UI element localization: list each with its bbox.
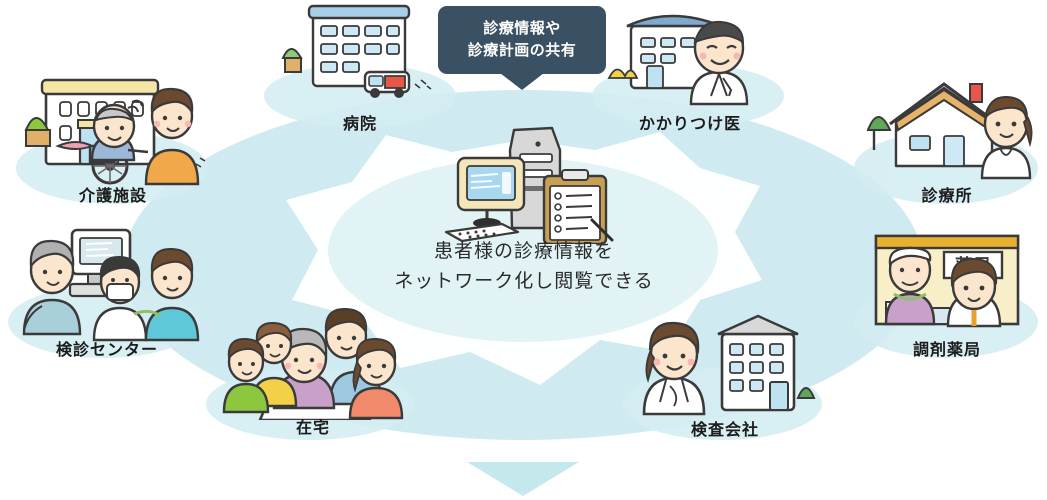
arrow-down-icon (467, 462, 579, 496)
node-screening[interactable]: 検診センター (12, 222, 202, 372)
badge-pointer-icon (500, 73, 544, 90)
node-lab-company[interactable]: 検査会社 (630, 302, 820, 452)
badge-line1: 診療情報や (468, 18, 577, 40)
node-hospital[interactable]: 病院 (265, 0, 455, 146)
node-family-doctor-label: かかりつけ医 (595, 110, 785, 134)
family-home-icon (218, 300, 408, 420)
center-caption-line1: 患者様の診療情報を (352, 236, 696, 266)
node-pharmacy-label: 調剤薬局 (852, 336, 1042, 360)
center-caption-line2: ネットワーク化し閲覧できる (352, 266, 696, 296)
center-caption: 患者様の診療情報を ネットワーク化し閲覧できる (352, 236, 696, 297)
nursing-icon (18, 68, 208, 188)
node-screening-label: 検診センター (12, 336, 202, 360)
hospital-icon (265, 0, 455, 116)
doctor-icon (595, 0, 785, 116)
share-info-badge: 診療情報や 診療計画の共有 (438, 6, 606, 74)
node-home-care-label: 在宅 (218, 414, 408, 438)
node-lab-company-label: 検査会社 (630, 416, 820, 440)
lab-icon (630, 302, 820, 422)
node-hospital-label: 病院 (265, 110, 455, 134)
clinic-icon (852, 68, 1042, 188)
pharmacy-icon: 薬局 (852, 222, 1042, 342)
badge-line2: 診療計画の共有 (468, 40, 577, 62)
screening-icon (12, 222, 202, 342)
node-home-care[interactable]: 在宅 (218, 300, 408, 450)
diagram-canvas: 患者様の診療情報を ネットワーク化し閲覧できる 診療情報や 診療計画の共有 (0, 0, 1047, 500)
node-family-doctor[interactable]: かかりつけ医 (595, 0, 785, 146)
node-nursing-facility-label: 介護施設 (18, 182, 208, 206)
node-pharmacy[interactable]: 薬局 調剤薬局 (852, 222, 1042, 372)
node-clinic[interactable]: 診療所 (852, 68, 1042, 218)
node-nursing-facility[interactable]: 介護施設 (18, 68, 208, 218)
node-clinic-label: 診療所 (852, 182, 1042, 206)
